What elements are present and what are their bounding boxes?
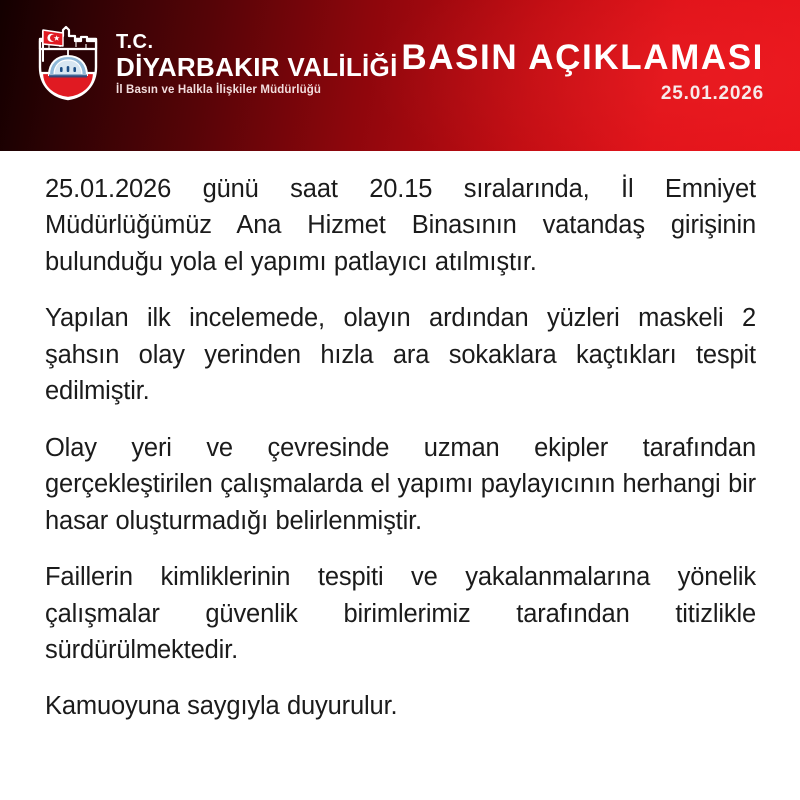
- press-release-poster: T.C. DİYARBAKIR VALİLİĞİ İl Basın ve Hal…: [0, 0, 800, 800]
- header-banner: T.C. DİYARBAKIR VALİLİĞİ İl Basın ve Hal…: [0, 0, 800, 151]
- brand-text-block: T.C. DİYARBAKIR VALİLİĞİ İl Basın ve Hal…: [116, 26, 398, 99]
- header-title-block: BASIN AÇIKLAMASI 25.01.2026: [401, 40, 764, 105]
- statement-paragraph: Yapılan ilk incelemede, olayın ardından …: [45, 300, 756, 409]
- statement-body: 25.01.2026 günü saat 20.15 sıralarında, …: [0, 151, 800, 725]
- brand-lockup: T.C. DİYARBAKIR VALİLİĞİ İl Basın ve Hal…: [32, 25, 398, 101]
- publication-date: 25.01.2026: [401, 84, 764, 105]
- brand-institution-label: DİYARBAKIR VALİLİĞİ: [116, 53, 398, 82]
- page-title: BASIN AÇIKLAMASI: [401, 40, 764, 77]
- statement-paragraph: Olay yeri ve çevresinde uzman ekipler ta…: [45, 430, 756, 539]
- diyarbakir-governorship-crest-icon: [32, 25, 104, 101]
- statement-paragraph: 25.01.2026 günü saat 20.15 sıralarında, …: [45, 171, 756, 280]
- brand-tc-label: T.C.: [116, 32, 398, 53]
- statement-closing-line: Kamuoyuna saygıyla duyurulur.: [45, 688, 756, 724]
- statement-paragraph: Faillerin kimliklerinin tespiti ve yakal…: [45, 559, 756, 668]
- brand-department-label: İl Basın ve Halkla İlişkiler Müdürlüğü: [116, 82, 398, 99]
